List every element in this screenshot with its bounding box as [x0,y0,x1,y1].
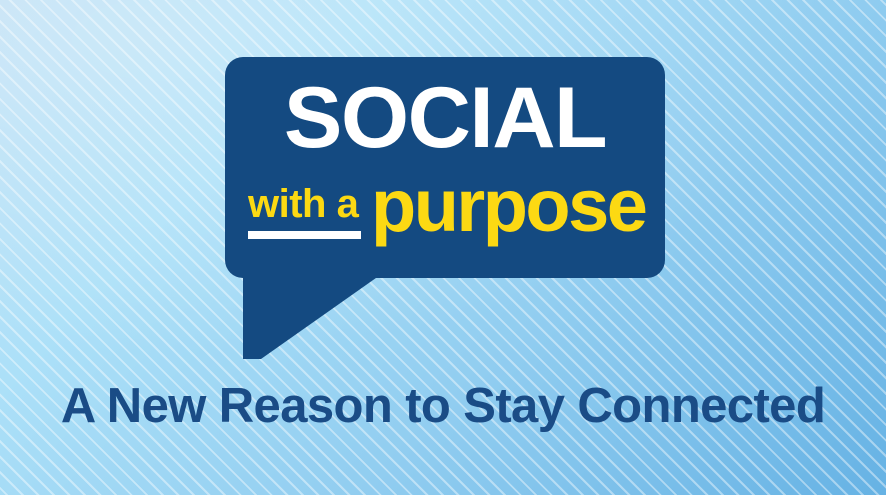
logo-word-purpose: purpose [371,175,645,241]
promotional-banner: SOCIAL with a purpose A New Reason to St… [0,0,886,495]
logo-word-with-a: with a [248,184,358,224]
logo-with-a-group: with a [248,184,361,241]
logo-word-social: SOCIAL [221,75,670,161]
speech-bubble-body: SOCIAL with a purpose [225,57,665,278]
social-with-a-purpose-logo: SOCIAL with a purpose [225,57,665,359]
banner-tagline: A New Reason to Stay Connected [0,378,886,434]
logo-underline-rule [248,231,361,239]
speech-bubble-tail-icon [243,273,383,359]
logo-second-line: with a purpose [248,175,648,241]
